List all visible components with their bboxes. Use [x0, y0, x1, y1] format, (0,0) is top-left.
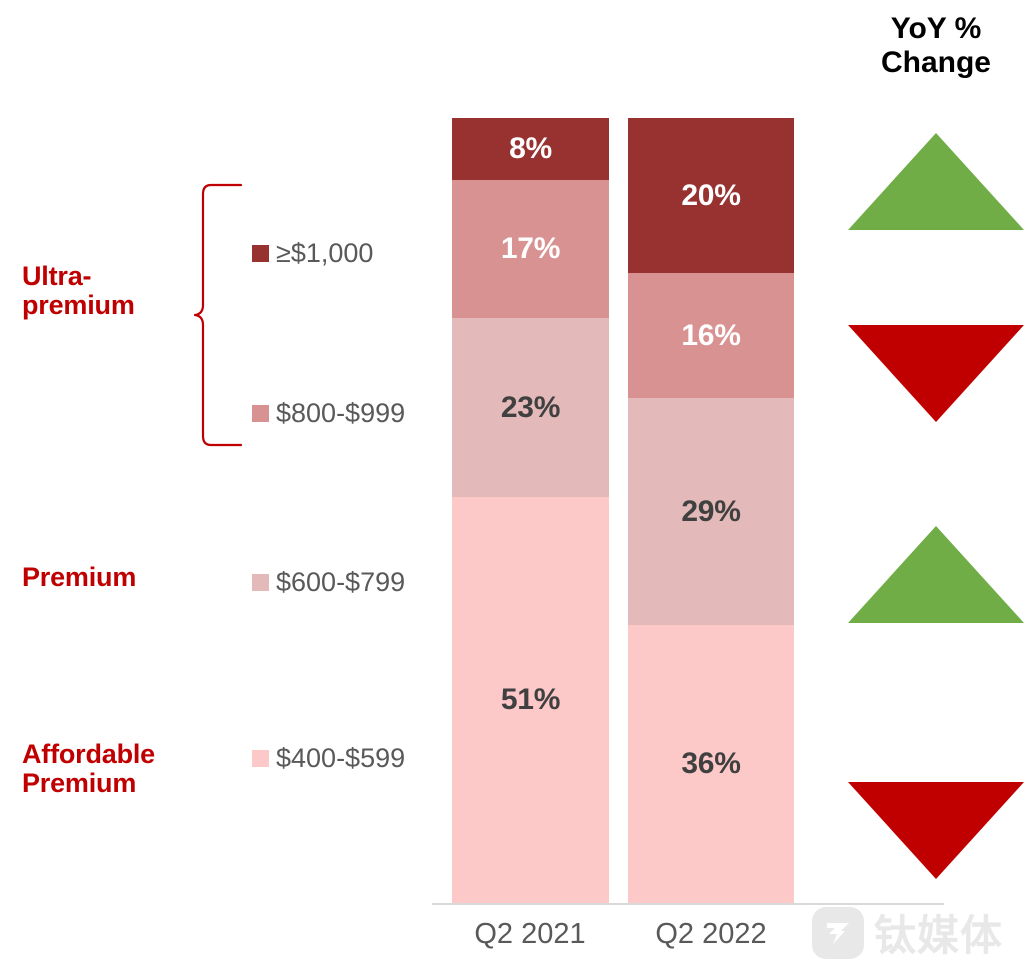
group-label-affordable-premium-line2: Premium — [22, 769, 222, 798]
yoy-change-header-line2: Change — [848, 46, 1024, 80]
watermark: 钛媒体 — [812, 902, 1003, 963]
bar-segment-label-q2-2022-800-999: 16% — [681, 319, 740, 353]
yoy-indicator-1000-plus[interactable]: 110% — [848, 133, 1024, 230]
yoy-change-header-line1: YoY % — [848, 12, 1024, 46]
bar-segment-label-q2-2021-1000-plus: 8% — [509, 132, 552, 166]
legend-label-600-799: $600-$799 — [276, 567, 405, 598]
bar-segment-label-q2-2021-400-599: 51% — [501, 683, 560, 717]
bar-segment-q2-2022-600-799[interactable]: 29% — [628, 398, 794, 625]
legend-swatch-400-599 — [252, 750, 269, 767]
yoy-indicator-800-999[interactable]: -16% — [848, 325, 1024, 422]
watermark-text: 钛媒体 — [874, 902, 1003, 963]
bar-segment-label-q2-2022-1000-plus: 20% — [681, 179, 740, 213]
triangle-down-icon — [848, 325, 1024, 422]
group-label-ultra-premium-line2: premium — [22, 291, 202, 320]
group-label-affordable-premium: Affordable Premium — [22, 740, 222, 798]
tmtpost-logo-icon — [812, 907, 864, 959]
legend-item-400-599[interactable]: $400-$599 — [252, 743, 405, 774]
bar-segment-q2-2022-400-599[interactable]: 36% — [628, 625, 794, 903]
tmtpost-glyph-icon — [821, 916, 855, 950]
group-label-ultra-premium: Ultra- premium — [22, 262, 202, 320]
ultra-premium-brace-icon — [193, 183, 253, 447]
bar-segment-q2-2022-1000-plus[interactable]: 20% — [628, 118, 794, 273]
stacked-bar-q2-2021[interactable]: 8% 17% 23% 51% — [452, 118, 609, 903]
legend-label-400-599: $400-$599 — [276, 743, 405, 774]
bar-segment-q2-2021-400-599[interactable]: 51% — [452, 497, 609, 903]
legend-label-1000-plus: ≥$1,000 — [276, 238, 373, 269]
legend-item-800-999[interactable]: $800-$999 — [252, 398, 405, 429]
legend-item-1000-plus[interactable]: ≥$1,000 — [252, 238, 373, 269]
yoy-indicator-600-799[interactable]: 10% — [848, 526, 1024, 623]
yoy-indicator-400-599[interactable]: -37% — [848, 782, 1024, 879]
bar-segment-q2-2022-800-999[interactable]: 16% — [628, 273, 794, 398]
bar-segment-q2-2021-600-799[interactable]: 23% — [452, 318, 609, 497]
triangle-up-icon — [848, 133, 1024, 230]
triangle-down-icon — [848, 782, 1024, 879]
bar-segment-label-q2-2021-600-799: 23% — [501, 391, 560, 425]
triangle-up-icon — [848, 526, 1024, 623]
legend-swatch-1000-plus — [252, 245, 269, 262]
bar-segment-q2-2021-1000-plus[interactable]: 8% — [452, 118, 609, 180]
bar-segment-label-q2-2021-800-999: 17% — [501, 232, 560, 266]
chart-canvas: Ultra- premium Premium Affordable Premiu… — [0, 0, 1024, 980]
legend-label-800-999: $800-$999 — [276, 398, 405, 429]
legend-item-600-799[interactable]: $600-$799 — [252, 567, 405, 598]
x-axis-label-q2-2021: Q2 2021 — [430, 918, 630, 951]
stacked-bar-q2-2022[interactable]: 20% 16% 29% 36% — [628, 118, 794, 903]
group-label-premium: Premium — [22, 563, 222, 592]
bar-segment-label-q2-2022-400-599: 36% — [681, 747, 740, 781]
bar-segment-q2-2021-800-999[interactable]: 17% — [452, 180, 609, 318]
group-label-ultra-premium-line1: Ultra- — [22, 262, 202, 291]
group-label-affordable-premium-line1: Affordable — [22, 740, 222, 769]
bar-segment-label-q2-2022-600-799: 29% — [681, 495, 740, 529]
legend-swatch-800-999 — [252, 405, 269, 422]
x-axis-label-q2-2022: Q2 2022 — [611, 918, 811, 951]
yoy-change-header: YoY % Change — [848, 12, 1024, 79]
legend-swatch-600-799 — [252, 574, 269, 591]
